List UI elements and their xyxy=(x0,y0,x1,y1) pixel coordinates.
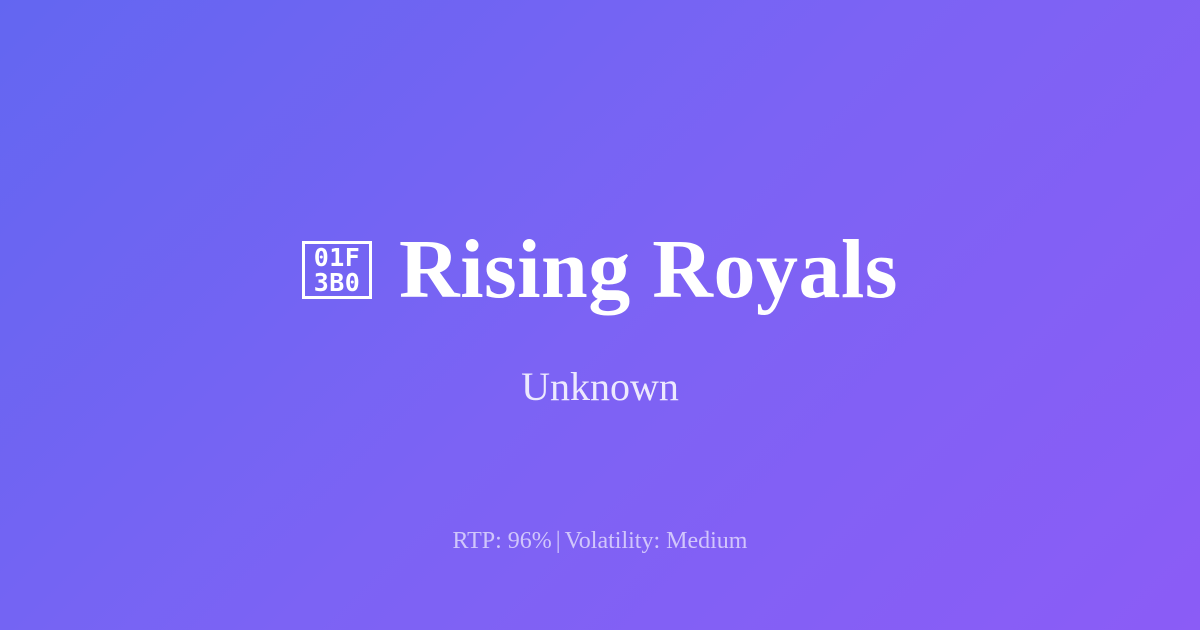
volatility-label: Volatility: Medium xyxy=(565,528,748,554)
tofu-codepoint-bottom: 3B0 xyxy=(314,270,361,295)
rtp-label: RTP: 96% xyxy=(453,528,552,554)
game-meta-line: RTP: 96%|Volatility: Medium xyxy=(0,527,1200,556)
title-row: 01F 3B0 Rising Royals xyxy=(0,228,1200,312)
tofu-codepoint-top: 01F xyxy=(314,245,361,270)
page-title: Rising Royals xyxy=(399,228,898,312)
meta-separator: | xyxy=(552,528,565,554)
og-card: 01F 3B0 Rising Royals Unknown RTP: 96%|V… xyxy=(0,0,1200,630)
slot-machine-emoji-icon: 01F 3B0 xyxy=(302,241,372,299)
page-subtitle: Unknown xyxy=(0,365,1200,409)
